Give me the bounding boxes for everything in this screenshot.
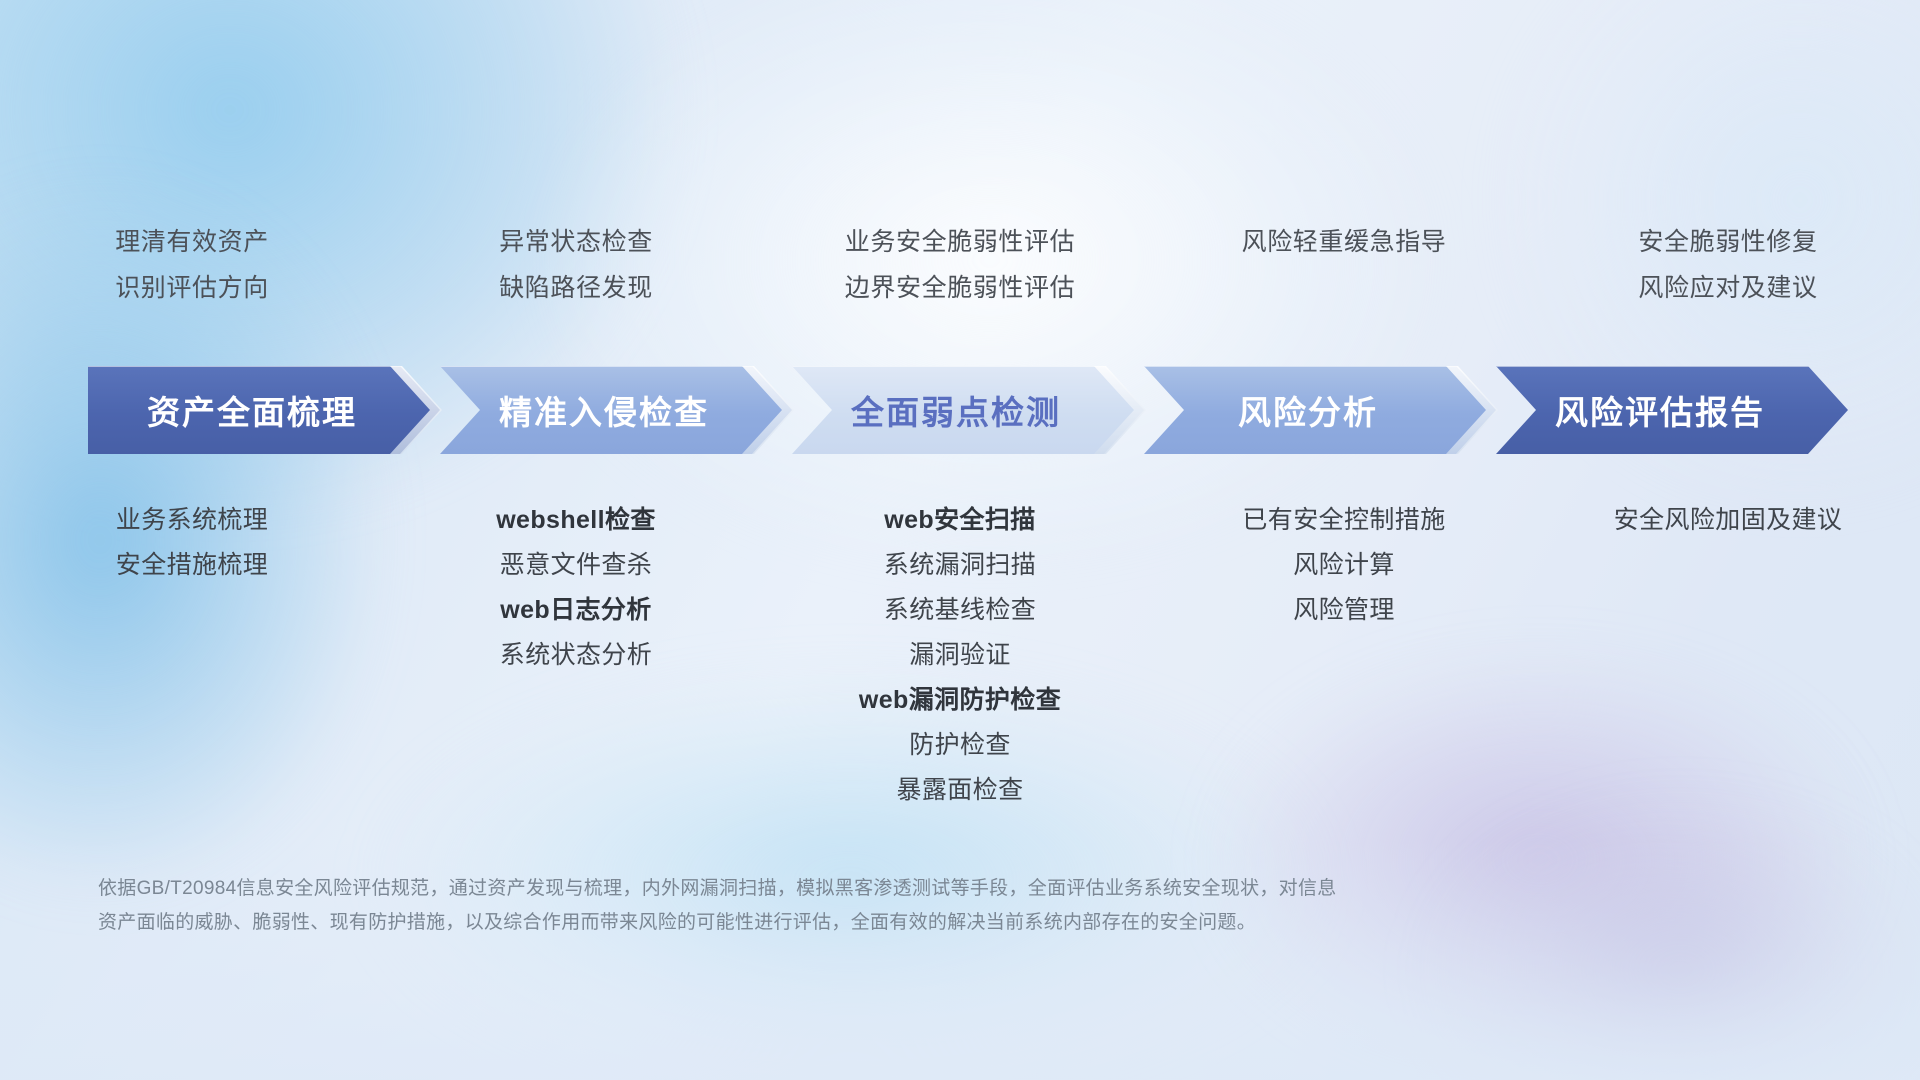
stage-chevron-3[interactable]: 全面弱点检测 (792, 366, 1144, 454)
detail-item: 风险计算 (1293, 550, 1395, 580)
stage-chevron-5[interactable]: 风险评估报告 (1496, 366, 1848, 454)
detail-list-5: 安全风险加固及建议 (1536, 505, 1920, 805)
detail-item: 系统状态分析 (500, 640, 652, 670)
top-caption-item: 边界安全脆弱性评估 (845, 274, 1075, 303)
top-caption-cell-1: 理清有效资产识别评估方向 (0, 228, 384, 303)
detail-item: web安全扫描 (884, 505, 1035, 535)
top-caption-cell-3: 业务安全脆弱性评估边界安全脆弱性评估 (768, 228, 1152, 303)
detail-item: 防护检查 (909, 730, 1011, 760)
detail-item: 已有安全控制措施 (1242, 505, 1445, 535)
top-caption-row: 理清有效资产识别评估方向异常状态检查缺陷路径发现业务安全脆弱性评估边界安全脆弱性… (0, 228, 1920, 303)
detail-item: 业务系统梳理 (116, 505, 268, 535)
detail-item: webshell检查 (496, 505, 656, 535)
detail-list-4: 已有安全控制措施风险计算风险管理 (1152, 505, 1536, 805)
stage-chevron-1[interactable]: 资产全面梳理 (88, 366, 440, 454)
detail-item: web日志分析 (500, 595, 651, 625)
stage-label: 精准入侵检查 (499, 386, 709, 434)
top-caption-item: 安全脆弱性修复 (1638, 228, 1817, 257)
top-caption-item: 识别评估方向 (115, 274, 269, 303)
top-caption-cell-5: 安全脆弱性修复风险应对及建议 (1536, 228, 1920, 303)
detail-item: 安全风险加固及建议 (1614, 505, 1843, 535)
footer-line-2: 资产面临的威胁、脆弱性、现有防护措施，以及综合作用而带来风险的可能性进行评估，全… (98, 906, 1618, 940)
top-caption-item: 异常状态检查 (499, 228, 653, 257)
detail-item: 系统基线检查 (884, 595, 1036, 625)
detail-item: 风险管理 (1293, 595, 1395, 625)
process-chevron-banner: 资产全面梳理精准入侵检查全面弱点检测风险分析风险评估报告 (88, 366, 1848, 454)
top-caption-item: 缺陷路径发现 (499, 274, 653, 303)
detail-item: web漏洞防护检查 (859, 685, 1061, 715)
stage-chevron-2[interactable]: 精准入侵检查 (440, 366, 792, 454)
stage-label: 风险分析 (1238, 386, 1378, 434)
stage-chevron-4[interactable]: 风险分析 (1144, 366, 1496, 454)
detail-item: 安全措施梳理 (116, 550, 268, 580)
stage-label: 资产全面梳理 (147, 386, 357, 434)
footer-description: 依据GB/T20984信息安全风险评估规范，通过资产发现与梳理，内外网漏洞扫描，… (98, 872, 1618, 940)
top-caption-item: 风险轻重缓急指导 (1242, 228, 1447, 257)
stage-label: 风险评估报告 (1555, 386, 1765, 434)
top-caption-item: 理清有效资产 (115, 228, 269, 257)
footer-line-1: 依据GB/T20984信息安全风险评估规范，通过资产发现与梳理，内外网漏洞扫描，… (98, 872, 1618, 906)
detail-list-1: 业务系统梳理安全措施梳理 (0, 505, 384, 805)
stage-label: 全面弱点检测 (851, 386, 1061, 434)
top-caption-cell-4: 风险轻重缓急指导 (1152, 228, 1536, 303)
detail-item: 系统漏洞扫描 (884, 550, 1036, 580)
bottom-detail-row: 业务系统梳理安全措施梳理webshell检查恶意文件查杀web日志分析系统状态分… (0, 505, 1920, 805)
detail-item: 恶意文件查杀 (500, 550, 652, 580)
detail-list-3: web安全扫描系统漏洞扫描系统基线检查漏洞验证web漏洞防护检查防护检查暴露面检… (768, 505, 1152, 805)
detail-list-2: webshell检查恶意文件查杀web日志分析系统状态分析 (384, 505, 768, 805)
top-caption-cell-2: 异常状态检查缺陷路径发现 (384, 228, 768, 303)
detail-item: 漏洞验证 (909, 640, 1011, 670)
top-caption-item: 业务安全脆弱性评估 (845, 228, 1075, 257)
top-caption-item: 风险应对及建议 (1638, 274, 1817, 303)
detail-item: 暴露面检查 (896, 775, 1023, 805)
slide-content: 理清有效资产识别评估方向异常状态检查缺陷路径发现业务安全脆弱性评估边界安全脆弱性… (0, 0, 1920, 1080)
